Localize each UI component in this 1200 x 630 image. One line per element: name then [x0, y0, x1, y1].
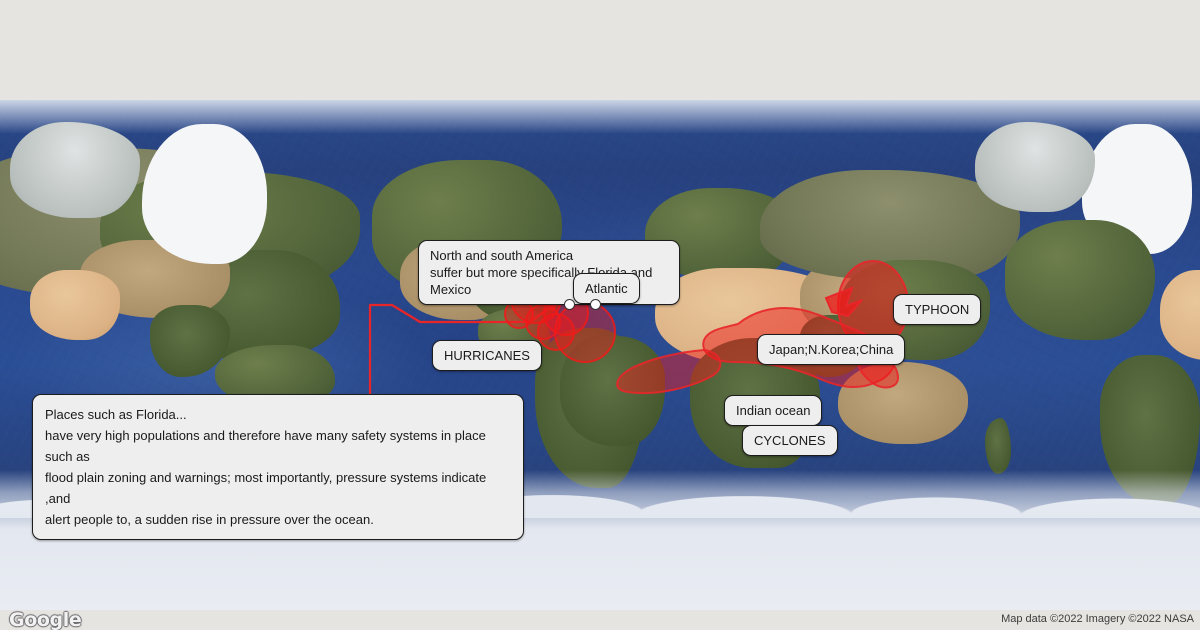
label-japan-nkorea-china-text: Japan;N.Korea;China — [769, 342, 893, 357]
map-viewport[interactable]: North and south America suffer but more … — [0, 100, 1200, 610]
label-hurricanes[interactable]: HURRICANES — [432, 340, 542, 371]
map-screenshot: North and south America suffer but more … — [0, 0, 1200, 630]
note-florida-line4: alert people to, a sudden rise in pressu… — [45, 509, 511, 530]
landmass-northamerica-wrap — [1005, 220, 1155, 340]
google-logo[interactable]: Google — [9, 609, 81, 630]
note-americas[interactable]: North and south America suffer but more … — [418, 240, 680, 305]
note-florida[interactable]: Places such as Florida... have very high… — [32, 394, 524, 540]
label-cyclones-text: CYCLONES — [754, 433, 826, 448]
note-florida-line1: Places such as Florida... — [45, 404, 511, 425]
attribution-text: Map data ©2022 Imagery ©2022 NASA — [1001, 613, 1194, 625]
note-florida-line2: have very high populations and therefore… — [45, 425, 511, 467]
label-japan-nkorea-china[interactable]: Japan;N.Korea;China — [757, 334, 905, 365]
label-atlantic-handle-left[interactable] — [564, 299, 575, 310]
landmass-canadian-arctic-wrap — [975, 122, 1095, 212]
label-atlantic-text: Atlantic — [585, 281, 628, 296]
top-chrome-bar — [0, 0, 1200, 100]
label-typhoon[interactable]: TYPHOON — [893, 294, 981, 325]
landmass-arabia-left — [30, 270, 120, 340]
label-atlantic[interactable]: Atlantic — [573, 273, 640, 304]
label-hurricanes-text: HURRICANES — [444, 348, 530, 363]
label-cyclones[interactable]: CYCLONES — [742, 425, 838, 456]
label-indian-ocean-text: Indian ocean — [736, 403, 810, 418]
label-atlantic-handle-right[interactable] — [590, 299, 601, 310]
note-florida-line3: flood plain zoning and warnings; most im… — [45, 467, 511, 509]
label-indian-ocean[interactable]: Indian ocean — [724, 395, 822, 426]
note-americas-line1: North and south America — [430, 247, 668, 264]
landmass-brazil — [560, 336, 665, 446]
greenland-ice — [142, 124, 267, 264]
landmass-australia — [838, 362, 968, 444]
label-typhoon-text: TYPHOON — [905, 302, 969, 317]
landmass-canadian-arctic — [10, 122, 140, 218]
